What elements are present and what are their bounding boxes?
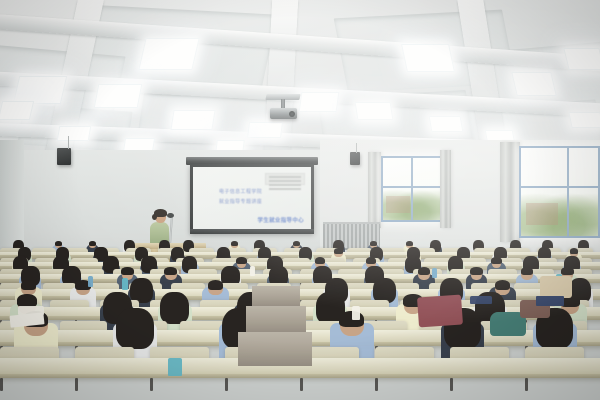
ceiling-panel-light [355,102,394,120]
lecture-hall-photo: 电子信息工程学院 就业指导专题讲座 学生就业指导中心 [0,0,600,400]
desk-post [150,378,153,391]
window-right [519,146,600,238]
student-hair-short [406,241,413,246]
desk-post [0,378,3,391]
student-hair-short [495,280,510,290]
ceiling-panel-light [511,72,557,96]
student-hair-short [231,241,238,246]
ceiling-panel-light [94,84,143,108]
student-hair-short [418,267,430,275]
student-hair-short [370,241,377,246]
desk-post [300,378,303,391]
student-hair-short [491,257,501,264]
window-building [386,196,410,212]
student-hair-short [570,248,579,254]
ceiling-panel-light [568,112,600,128]
wall-speaker-left [57,148,71,165]
slide-logo: 学生就业指导中心 [257,216,304,224]
bottle-cyan [122,278,128,290]
wall-speaker-right [350,152,360,165]
ceiling-panel-light [57,126,92,141]
ceiling-panel-light [13,76,67,104]
notebook-white [352,306,360,320]
aisle-step [238,332,312,366]
bottle-blue [88,276,93,287]
curtain-left-of-center-window[interactable] [368,152,381,228]
bag-beige [540,276,572,298]
student-hair-long [116,308,153,349]
ceiling-panel-light [299,92,340,112]
window-mullion [521,186,598,188]
slide-title-line1: 电子信息工程学院 [219,188,285,198]
window-center [381,156,442,222]
aisle-step [246,306,306,332]
notebook-white [250,266,255,276]
desk-post [225,378,228,391]
bag-maroon [417,295,463,328]
aisle-step [252,286,300,306]
slide-note-box [265,173,305,186]
screen-bottom-bar [190,229,314,234]
student-hair-short [293,241,300,246]
curtain-left-of-right-window[interactable] [500,142,520,242]
bottle-cyan [168,358,182,376]
student-hair-short [17,294,37,307]
presenter-hair-bun [152,214,157,220]
student-hair-short [236,257,246,264]
student-hair-short [334,248,343,254]
desk-post [525,378,528,391]
desk-post [450,378,453,391]
student-hair-short [55,241,62,246]
speaker-wire [356,143,357,153]
window-mullion [567,148,569,236]
ceiling-panel-light [401,44,455,72]
ceiling-panel-light [170,110,215,130]
slide-title: 电子信息工程学院 就业指导专题讲座 [219,188,285,207]
student-hair-short [315,257,325,264]
projector-lens-icon [289,111,295,117]
student-hair-short [21,280,36,290]
window-building [526,203,558,226]
student-hair-long [160,292,189,324]
microphone-icon[interactable] [167,213,174,218]
speaker-wire [68,136,69,149]
student-hair-short [121,267,133,275]
desk-post [375,378,378,391]
bottle-blue [432,268,437,278]
ceiling-panel-light [138,38,199,70]
slide-title-line2: 就业指导专题讲座 [219,198,285,208]
projection-screen: 电子信息工程学院 就业指导专题讲座 学生就业指导中心 [190,164,314,233]
desk-post [75,378,78,391]
ceiling-panel-light [563,48,600,70]
student-hair-short [561,267,573,275]
notebook-blue [470,296,492,304]
curtain-right-of-center-window[interactable] [440,150,451,228]
student-hair-short [208,280,223,290]
student-hair-short [470,267,482,275]
ceiling-panel-light [429,116,464,132]
student-hair-short [521,267,533,275]
student-hair-short [164,267,176,275]
ceiling-panel-light [0,101,34,120]
notebook-blue [536,296,564,306]
window-mullion [411,158,413,220]
slide-surface: 电子信息工程学院 就业指导专题讲座 学生就业指导中心 [193,167,311,230]
student-hair-short [89,241,96,246]
student-hair-short [366,257,376,264]
ceiling-panel-light [247,122,283,138]
